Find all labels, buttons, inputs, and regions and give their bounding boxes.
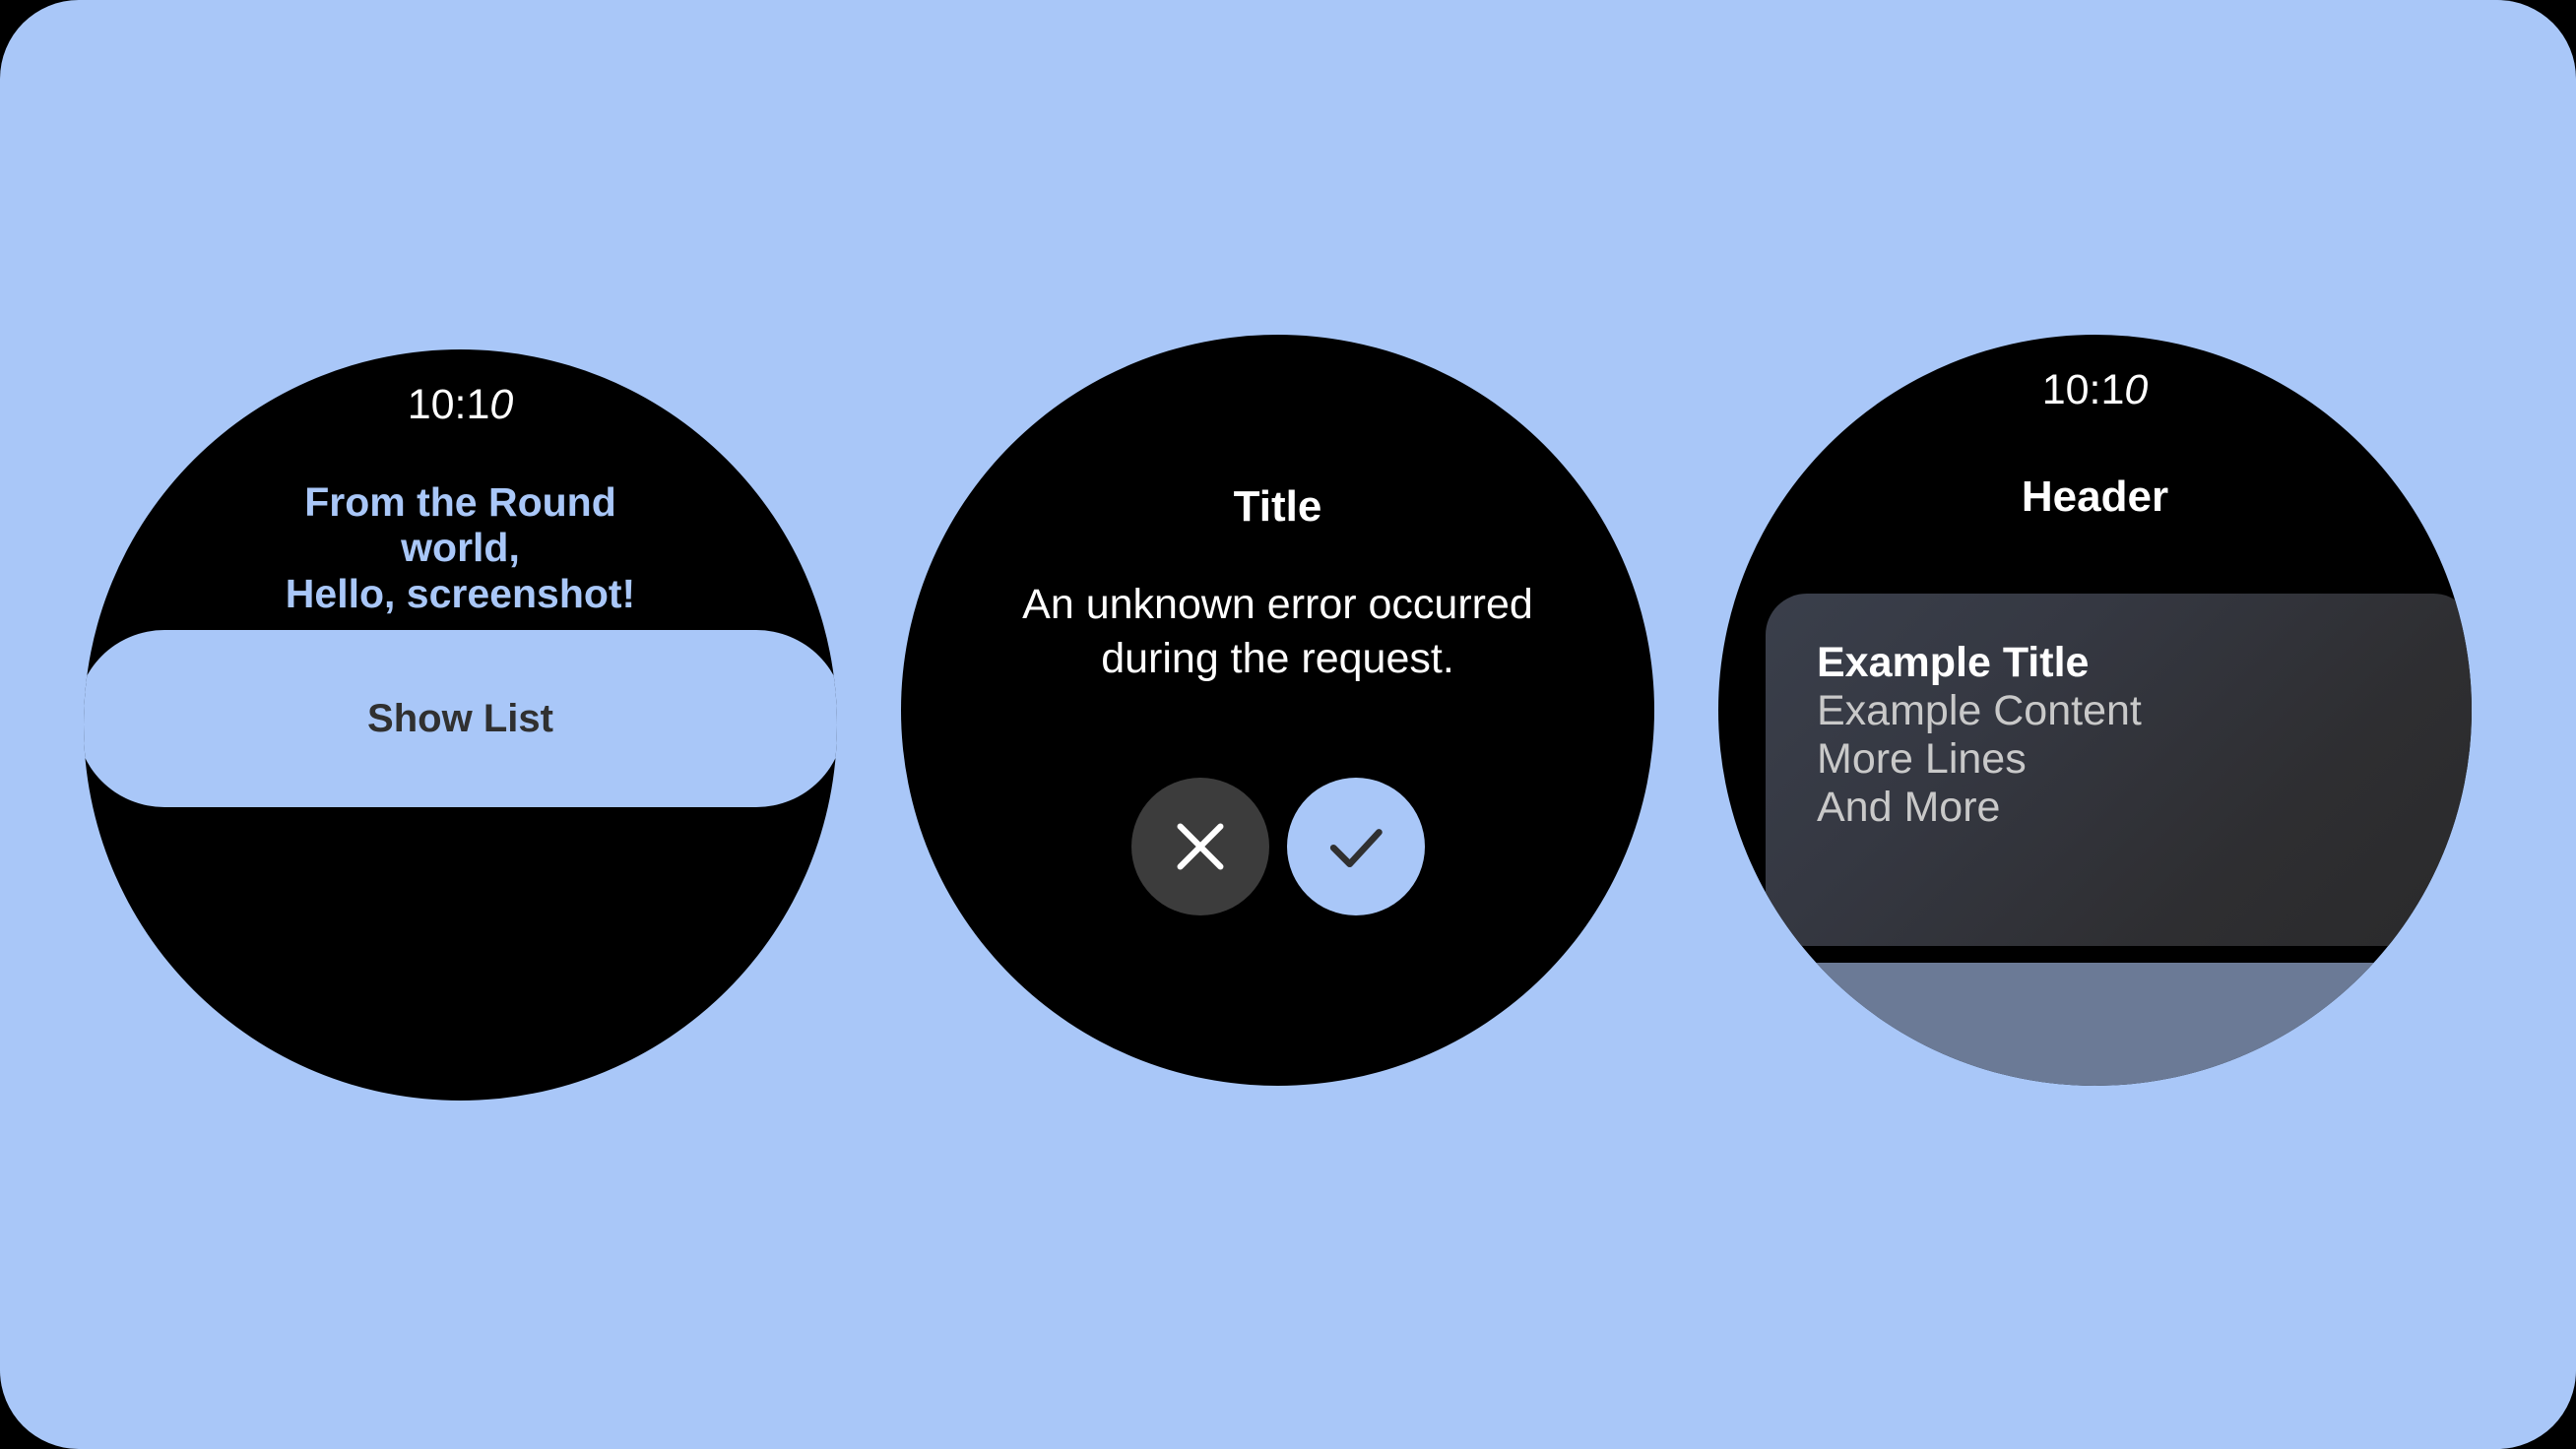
list-item[interactable]: Example Title Example Content More Lines… xyxy=(1766,594,2472,946)
watch-face-alert-dialog: Title An unknown error occurred during t… xyxy=(901,335,1654,1086)
status-bar-time: 10:10 xyxy=(1718,366,2472,414)
watch-face-round-greeting: 10:10 From the Round world, Hello, scree… xyxy=(84,349,837,1101)
card-line-1: Example Content xyxy=(1817,687,2472,735)
close-icon xyxy=(1166,812,1235,881)
dialog-message-line-1: An unknown error occurred xyxy=(929,578,1627,632)
dialog-actions xyxy=(901,778,1654,915)
status-bar-time-suffix: 0 xyxy=(489,381,513,428)
status-bar-time: 10:10 xyxy=(84,381,837,429)
card-line-2: More Lines xyxy=(1817,735,2472,784)
dialog-message: An unknown error occurred during the req… xyxy=(929,578,1627,686)
show-list-button-label: Show List xyxy=(367,697,553,741)
list-header: Header xyxy=(1718,472,2472,522)
status-bar-time-main: 10:1 xyxy=(408,381,490,428)
dialog-confirm-button[interactable] xyxy=(1287,778,1425,915)
watch-face-card-list: 10:10 Header Example Title Example Conte… xyxy=(1718,335,2472,1086)
greeting-line-3: Hello, screenshot! xyxy=(121,571,800,616)
card-line-3: And More xyxy=(1817,784,2472,832)
greeting-line-1: From the Round xyxy=(121,479,800,525)
card-title: Example Title xyxy=(1817,639,2472,687)
status-bar-time-main: 10:1 xyxy=(2042,366,2125,413)
show-list-button[interactable]: Show List xyxy=(84,630,837,807)
greeting-line-2: world, xyxy=(121,525,800,570)
dialog-message-line-2: during the request. xyxy=(929,632,1627,686)
greeting-text: From the Round world, Hello, screenshot! xyxy=(121,479,800,616)
dialog-dismiss-button[interactable] xyxy=(1131,778,1269,915)
check-icon xyxy=(1319,809,1393,884)
status-bar-time-suffix: 0 xyxy=(2124,366,2148,413)
screenshot-canvas: 10:10 From the Round world, Hello, scree… xyxy=(0,0,2576,1449)
list-item-next[interactable] xyxy=(1766,963,2472,1086)
dialog-title: Title xyxy=(901,482,1654,532)
